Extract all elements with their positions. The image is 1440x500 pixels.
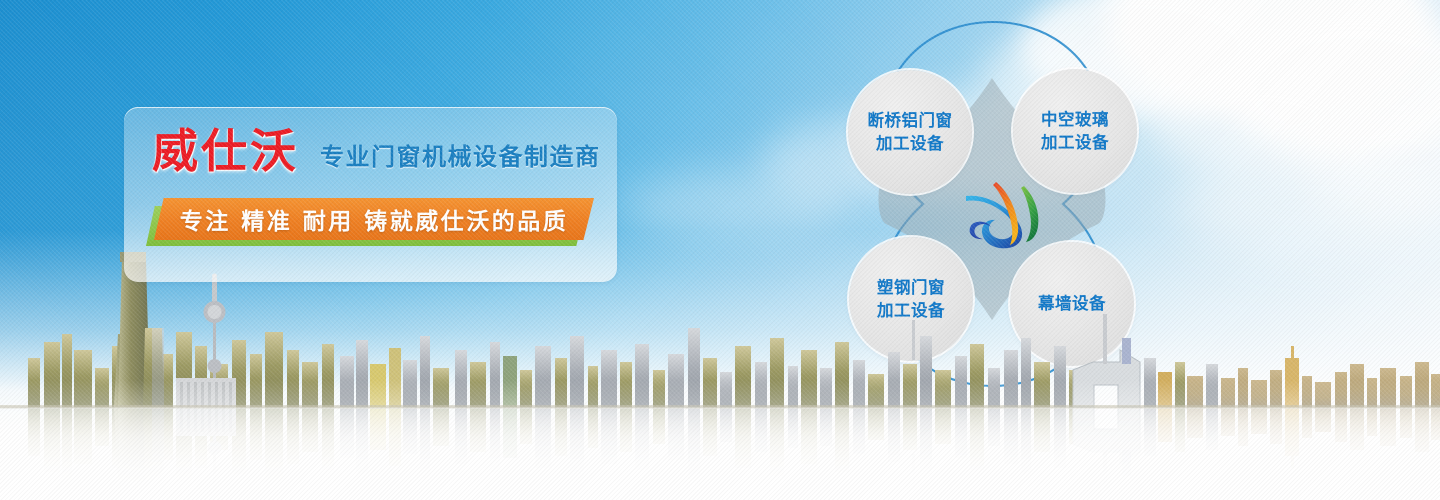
swoosh-logo-icon: [960, 168, 1052, 260]
product-circle-line1: 中空玻璃: [1041, 108, 1109, 131]
hero-banner: 断桥铝门窗 加工设备 中空玻璃 加工设备 塑钢门窗 加工设备 幕墙设备: [0, 0, 1440, 500]
product-circle-line1: 断桥铝门窗: [868, 109, 953, 132]
ribbon-orange-band: 专注 精准 耐用 铸就威仕沃的品质: [154, 198, 594, 240]
brand-name: 威仕沃: [152, 128, 299, 174]
product-circle-duanqiaolv[interactable]: 断桥铝门窗 加工设备: [848, 70, 972, 194]
product-circle-line2: 加工设备: [876, 132, 944, 155]
brand-tagline: 专业门窗机械设备制造商: [320, 145, 601, 169]
slogan-ribbon: 专注 精准 耐用 铸就威仕沃的品质: [146, 198, 598, 250]
headline-row: 威仕沃 专业门窗机械设备制造商: [152, 128, 601, 174]
ribbon-slogan-text: 专注 精准 耐用 铸就威仕沃的品质: [180, 202, 569, 236]
city-skyline-illustration: [0, 250, 1440, 500]
product-circle-line2: 加工设备: [1041, 131, 1109, 154]
